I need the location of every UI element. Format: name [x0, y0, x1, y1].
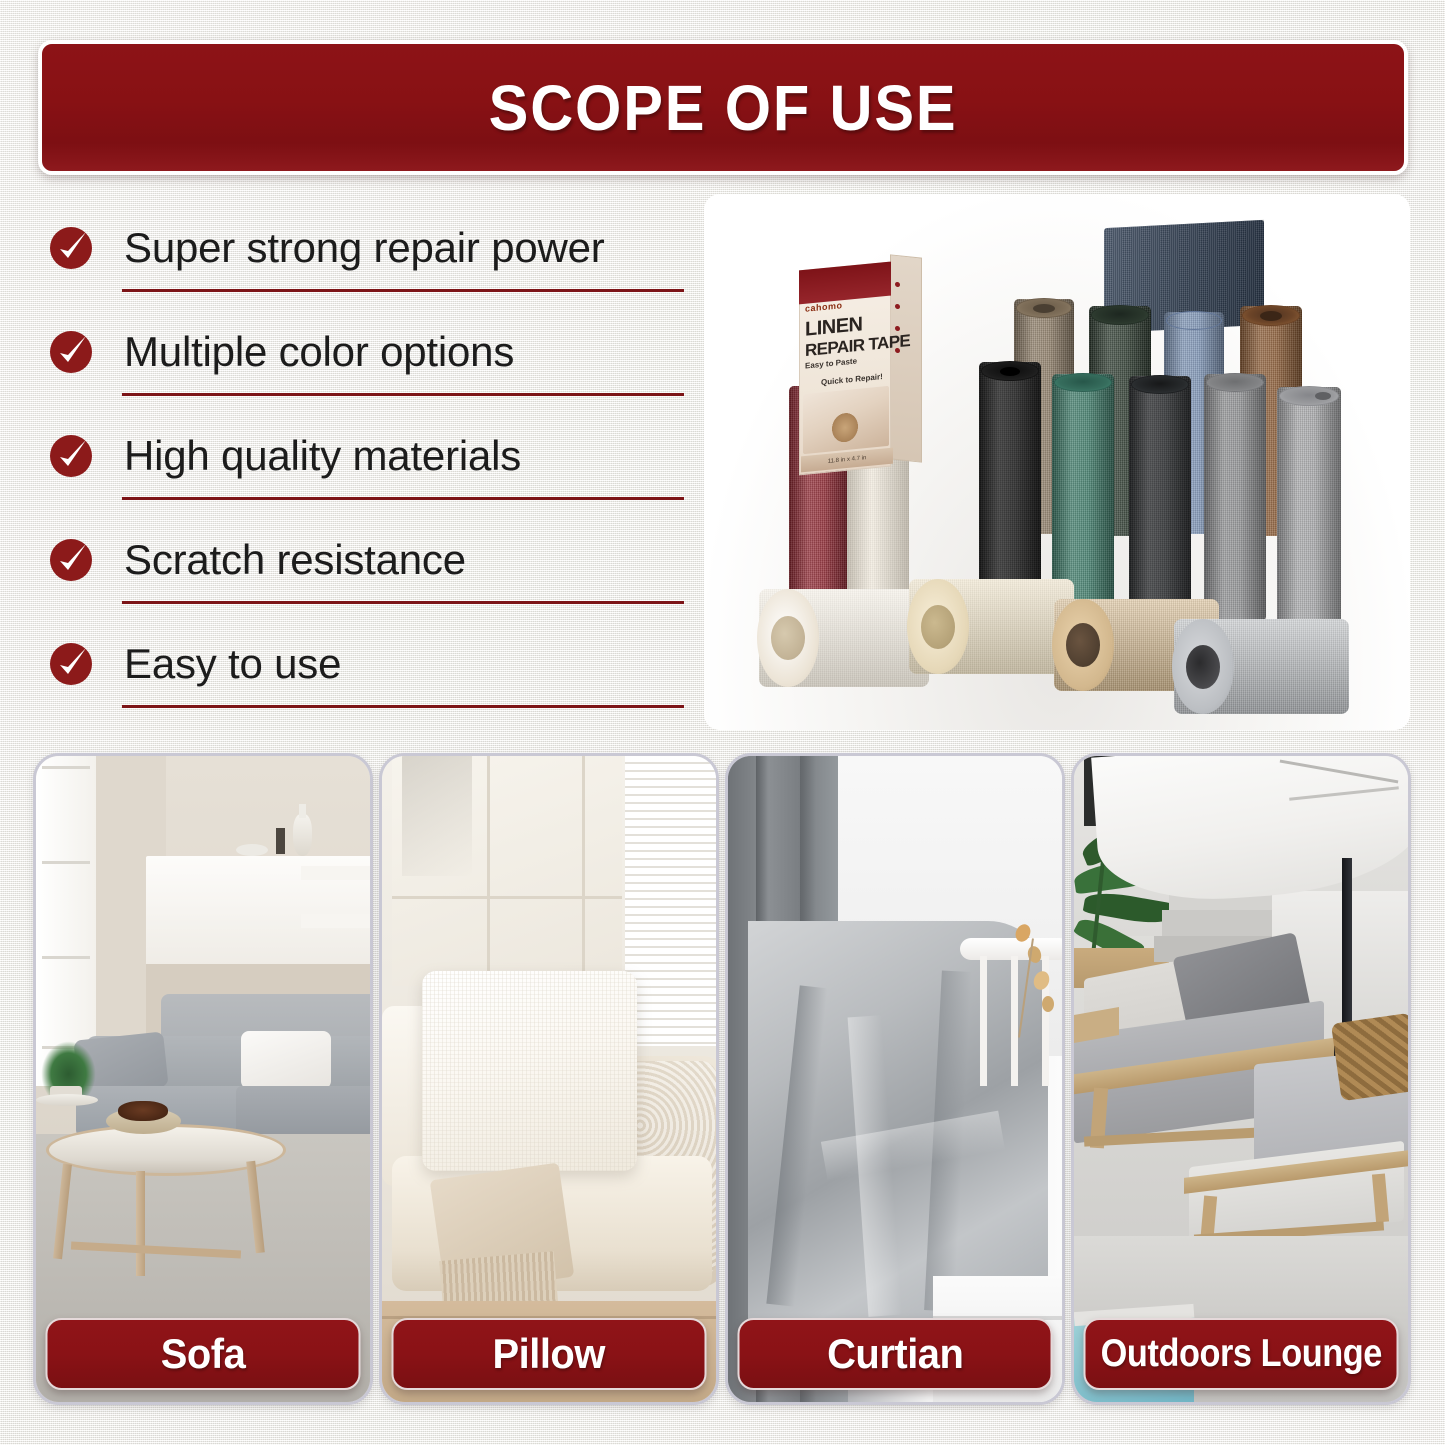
- feature-item-5: Easy to use: [40, 612, 690, 716]
- header-banner: SCOPE OF USE: [38, 40, 1408, 175]
- feature-divider: [122, 289, 684, 292]
- check-circle-icon: [48, 641, 94, 687]
- label-text: Sofa: [161, 1330, 246, 1378]
- feature-item-4: Scratch resistance: [40, 508, 690, 612]
- label-text: Curtian: [827, 1330, 963, 1378]
- product-box: cahomo LINEN REPAIR TAPE Easy to Paste Q…: [799, 256, 921, 471]
- use-case-card-sofa[interactable]: Sofa: [33, 753, 373, 1405]
- use-case-card-outdoors-lounge[interactable]: Outdoors Lounge: [1071, 753, 1411, 1405]
- box-lifestyle-photo: [803, 386, 889, 454]
- scene-grey-curtain: [728, 756, 1062, 1402]
- feature-label: Easy to use: [124, 640, 341, 688]
- tape-roll-lying-silver: [1174, 619, 1349, 714]
- feature-item-1: Super strong repair power: [40, 196, 690, 300]
- check-circle-icon: [48, 329, 94, 375]
- feature-label: Super strong repair power: [124, 224, 605, 272]
- use-case-label-sofa: Sofa: [46, 1318, 361, 1390]
- feature-label: Scratch resistance: [124, 536, 466, 584]
- feature-divider: [122, 705, 684, 708]
- tape-roll-grey: [1204, 374, 1266, 622]
- label-text: Outdoors Lounge: [1100, 1332, 1381, 1376]
- check-circle-icon: [48, 225, 94, 271]
- tape-roll-black: [979, 362, 1041, 612]
- feature-divider: [122, 601, 684, 604]
- tape-roll-charcoal: [1129, 376, 1191, 621]
- feature-list: Super strong repair power Multiple color…: [40, 196, 690, 736]
- feature-item-3: High quality materials: [40, 404, 690, 508]
- page-title: SCOPE OF USE: [489, 71, 958, 145]
- tape-roll-lying-cream: [909, 579, 1074, 674]
- check-circle-icon: [48, 433, 94, 479]
- tape-roll-lying-white: [759, 589, 929, 687]
- label-text: Pillow: [493, 1330, 605, 1378]
- feature-label: Multiple color options: [124, 328, 514, 376]
- use-case-label-outdoors-lounge: Outdoors Lounge: [1084, 1318, 1399, 1390]
- use-case-card-pillow[interactable]: Pillow: [379, 753, 719, 1405]
- use-case-label-pillow: Pillow: [392, 1318, 707, 1390]
- scene-living-room: [36, 756, 370, 1402]
- use-case-label-curtain: Curtian: [738, 1318, 1053, 1390]
- feature-divider: [122, 393, 684, 396]
- product-photo-panel: cahomo LINEN REPAIR TAPE Easy to Paste Q…: [704, 194, 1410, 730]
- use-case-card-curtain[interactable]: Curtian: [725, 753, 1065, 1405]
- feature-item-2: Multiple color options: [40, 300, 690, 404]
- feature-divider: [122, 497, 684, 500]
- scene-poolside-lounge: [1074, 756, 1408, 1402]
- woven-pillow: [1331, 1013, 1408, 1101]
- box-feature-dots: [895, 282, 900, 371]
- tape-roll-lightgrey: [1277, 387, 1341, 629]
- check-circle-icon: [48, 537, 94, 583]
- product-photo: cahomo LINEN REPAIR TAPE Easy to Paste Q…: [704, 194, 1410, 730]
- feature-label: High quality materials: [124, 432, 521, 480]
- scene-pillow-armchair: [382, 756, 716, 1402]
